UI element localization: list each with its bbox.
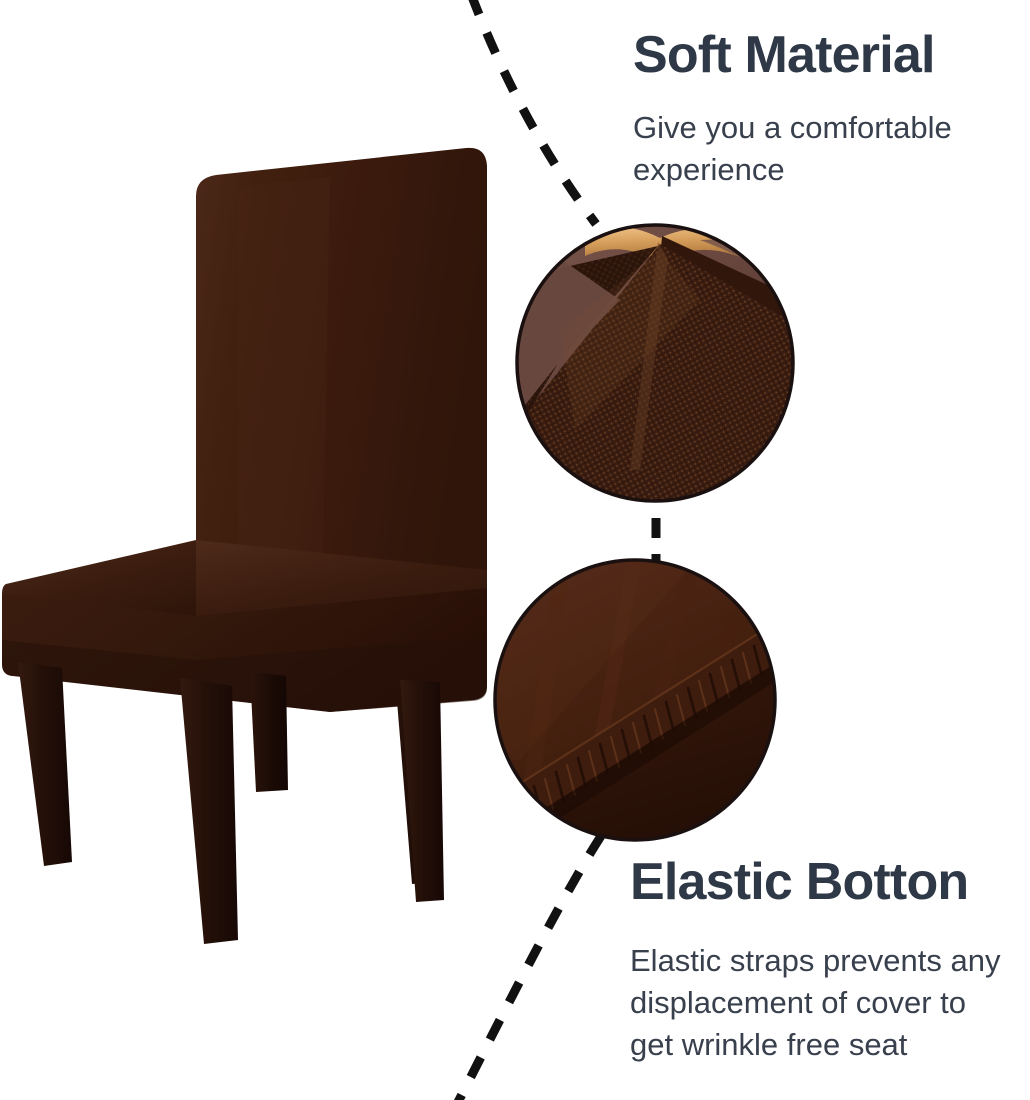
elastic-bottom-heading: Elastic Botton [630,855,1030,910]
elastic-bottom-body-line-3: get wrinkle free seat [630,1024,1030,1066]
elastic-bottom-body-line-1: Elastic straps prevents any [630,940,1030,982]
soft-material-body-line-1: Give you a comfortable [633,107,1023,149]
soft-material-heading: Soft Material [633,28,1023,83]
elastic-bottom-body-line-2: displacement of cover to [630,982,1030,1024]
infographic-canvas: Soft Material Give you a comfortable exp… [0,0,1030,1100]
soft-material-body: Give you a comfortable experience [633,107,1023,191]
soft-material-body-line-2: experience [633,149,1023,191]
soft-material-text-block: Soft Material Give you a comfortable exp… [633,28,1023,191]
elastic-bottom-text-block: Elastic Botton Elastic straps prevents a… [630,855,1030,1066]
elastic-bottom-body: Elastic straps prevents any displacement… [630,940,1030,1066]
